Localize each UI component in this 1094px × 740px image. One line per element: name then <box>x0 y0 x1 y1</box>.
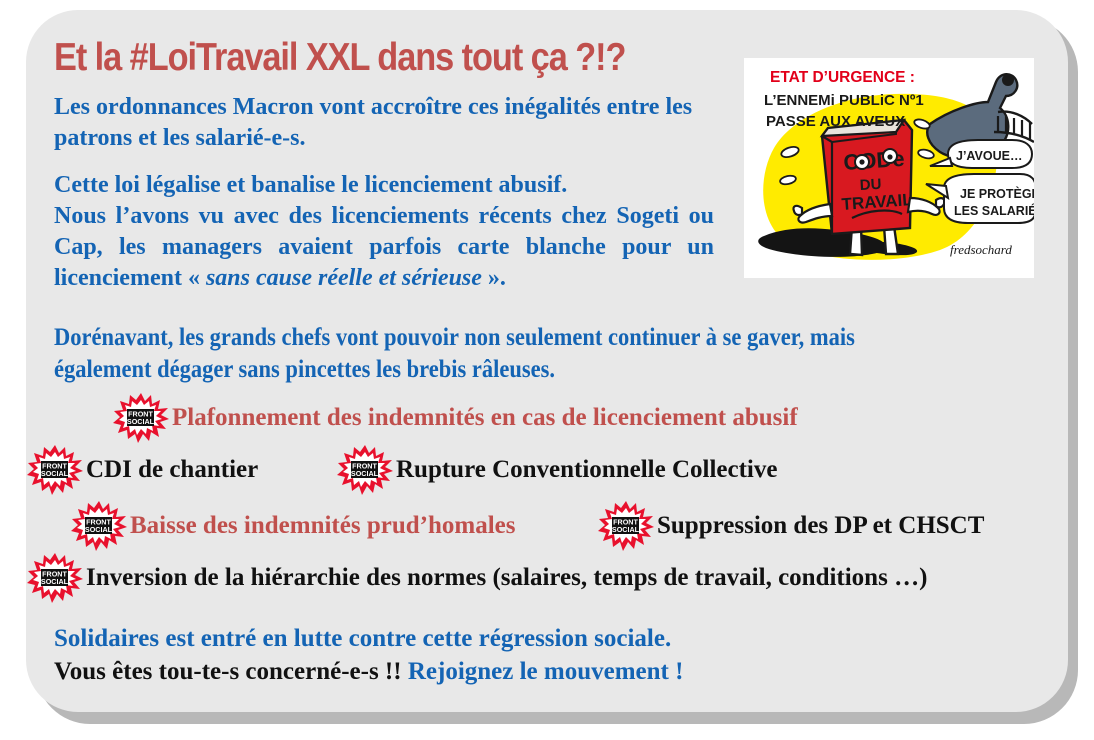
svg-text:SOCIAL: SOCIAL <box>127 417 155 426</box>
front-social-badge-icon: FRONT SOCIAL <box>336 444 394 496</box>
cartoon-illustration: CODe DU TRAVAIL ETAT D’URGENCE : L’ENNEM… <box>744 58 1034 278</box>
cartoon-svg: CODe DU TRAVAIL ETAT D’URGENCE : L’ENNEM… <box>744 58 1034 278</box>
measure-label: CDI de chantier <box>86 456 258 484</box>
footer-line-2-blue: Rejoignez le mouvement ! <box>408 658 684 685</box>
footer-call-to-action: Solidaires est entré en lutte contre cet… <box>54 622 683 688</box>
front-social-badge-icon: FRONT SOCIAL <box>112 392 170 444</box>
measure-label: Inversion de la hiérarchie des normes (s… <box>86 564 927 592</box>
licenciement-body: Nous l’avons vu avec des licenciements r… <box>54 201 714 294</box>
front-social-badge-icon: FRONT SOCIAL <box>70 500 128 552</box>
list-item: FRONT SOCIAL Baisse des indemnités prud’… <box>70 500 515 552</box>
measure-label: Plafonnement des indemnités en cas de li… <box>172 404 798 432</box>
svg-text:SOCIAL: SOCIAL <box>612 525 640 534</box>
cartoon-headline-black-1: L’ENNEMi PUBLiC Nº1 <box>764 92 924 109</box>
intro-paragraph: Les ordonnances Macron vont accroître ce… <box>54 92 714 154</box>
list-item: FRONT SOCIAL Suppression des DP et CHSCT <box>597 500 984 552</box>
dorenavant-text: Dorénavant, les grands chefs vont pouvoi… <box>54 324 855 383</box>
dorenavant-paragraph: Dorénavant, les grands chefs vont pouvoi… <box>54 322 941 386</box>
footer-line-2-black: Vous êtes tou-te-s concerné-e-s !! <box>54 658 402 685</box>
footer-line-1: Solidaires est entré en lutte contre cet… <box>54 622 683 655</box>
licenciement-line-1: Cette loi légalise et banalise le licenc… <box>54 170 714 201</box>
licenciement-quote-italic: sans cause réelle et sérieuse <box>206 265 482 291</box>
licenciement-body-post: ». <box>482 265 506 291</box>
intro-paragraph-text: Les ordonnances Macron vont accroître ce… <box>54 94 692 151</box>
book-title-line-2: DU <box>859 176 882 194</box>
svg-text:SOCIAL: SOCIAL <box>41 577 69 586</box>
front-social-badge-icon: FRONT SOCIAL <box>26 552 84 604</box>
cartoon-signature: fredsochard <box>950 242 1012 257</box>
list-item: FRONT SOCIAL Plafonnement des indemnités… <box>112 392 798 444</box>
measure-label: Baisse des indemnités prud’homales <box>130 512 515 540</box>
front-social-badge-icon: FRONT SOCIAL <box>26 444 84 496</box>
list-item: FRONT SOCIAL CDI de chantier <box>26 444 258 496</box>
licenciement-paragraph: Cette loi légalise et banalise le licenc… <box>54 170 714 294</box>
cartoon-headline-red: ETAT D’URGENCE : <box>770 69 915 86</box>
list-item: FRONT SOCIAL Rupture Conventionnelle Col… <box>336 444 777 496</box>
measure-label: Rupture Conventionnelle Collective <box>396 456 777 484</box>
list-item: FRONT SOCIAL Inversion de la hiérarchie … <box>26 552 927 604</box>
front-social-badge-icon: FRONT SOCIAL <box>597 500 655 552</box>
cartoon-headline-black-2: PASSE AUX AVEUX <box>766 113 905 130</box>
svg-text:SOCIAL: SOCIAL <box>351 469 379 478</box>
measure-label: Suppression des DP et CHSCT <box>657 512 984 540</box>
measures-list: FRONT SOCIAL Plafonnement des indemnités… <box>0 392 1094 612</box>
svg-text:SOCIAL: SOCIAL <box>85 525 113 534</box>
svg-text:J’AVOUE…: J’AVOUE… <box>956 149 1022 163</box>
svg-text:JE PROTÈGE: JE PROTÈGE <box>960 186 1034 201</box>
page-title: Et la #LoiTravail XXL dans tout ça ?!? <box>54 36 625 80</box>
footer-line-2: Vous êtes tou-te-s concerné-e-s !! Rejoi… <box>54 655 683 688</box>
svg-text:SOCIAL: SOCIAL <box>41 469 69 478</box>
svg-text:LES SALARIÉS: LES SALARIÉS <box>954 203 1034 218</box>
